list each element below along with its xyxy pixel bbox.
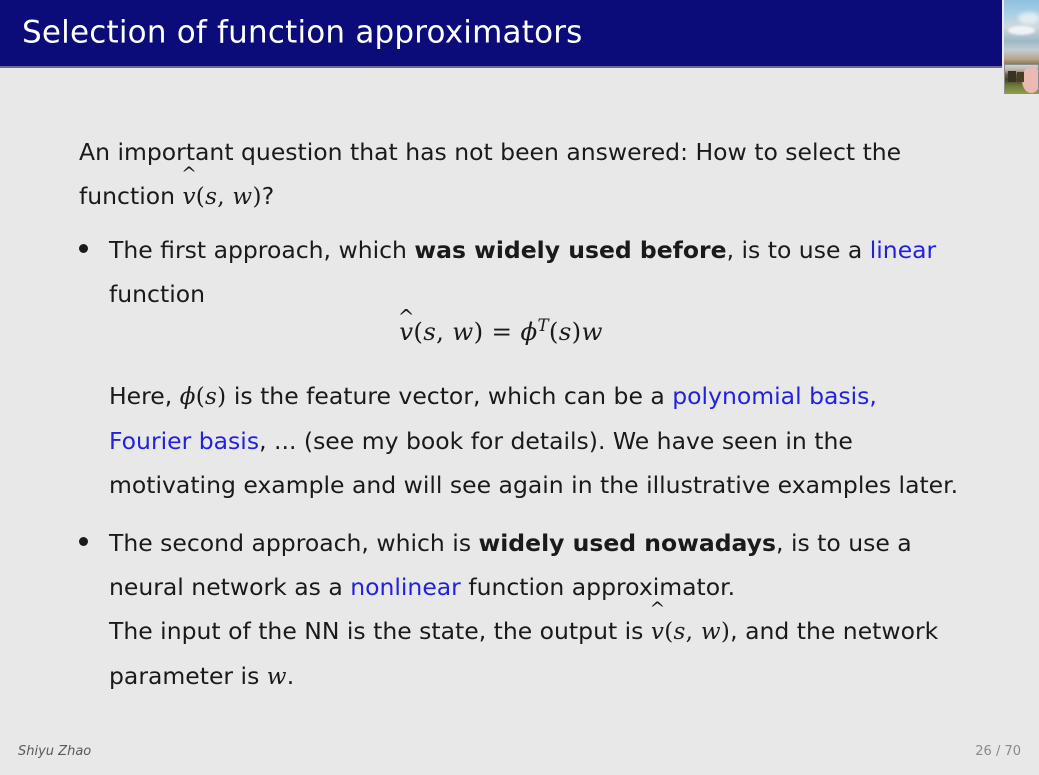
- bullet1-part2: , is to use a: [727, 236, 870, 264]
- bullet2-part3: function approximator.: [461, 573, 735, 601]
- bullet2-subparagraph: The input of the NN is the state, the ou…: [109, 609, 941, 699]
- math-phi-s: ϕ(s): [180, 384, 227, 410]
- bullet1-highlight-linear: linear: [870, 236, 936, 264]
- aftereq-highlight-polynomial-basis: polynomial basis,: [672, 382, 877, 410]
- bullet2-sub-part1: The input of the NN is the state, the ou…: [109, 617, 651, 645]
- bullet2-text: The second approach, which is widely use…: [109, 521, 941, 609]
- footer-author: Shiyu Zhao: [18, 744, 91, 759]
- decoration-strip: [1002, 0, 1039, 96]
- bullet2-part1: The second approach, which is: [109, 529, 479, 557]
- math-w: w: [267, 664, 287, 690]
- aftereq-part2: is the feature vector, which can be a: [226, 382, 672, 410]
- footer-page-number: 26 / 70: [975, 744, 1021, 759]
- bullet1-emphasis: was widely used before: [414, 236, 726, 264]
- intro-line-b-prefix: function: [79, 182, 182, 210]
- bullet1-part3: function: [109, 280, 205, 308]
- bullet-dot-icon: [79, 537, 88, 546]
- slide: Selection of function approximators An i…: [0, 0, 1039, 775]
- slide-footer: Shiyu Zhao 26 / 70: [0, 735, 1039, 775]
- page-title: Selection of function approximators: [22, 14, 583, 50]
- bullet2-highlight-nonlinear: nonlinear: [350, 573, 461, 601]
- sky-clouds-photo-icon: [1004, 0, 1039, 64]
- equation-linear-approximator: ^v(s, w) = ϕT(s)w: [0, 316, 1002, 346]
- photo-shape-building-left: [1008, 71, 1016, 82]
- photo-shape-person: [1022, 67, 1039, 93]
- feature-vector-paragraph: Here, ϕ(s) is the feature vector, which …: [109, 374, 964, 507]
- aftereq-part1: Here,: [109, 382, 180, 410]
- math-vhat-s-w: ^v(s, w): [651, 619, 730, 645]
- slide-title-bar: Selection of function approximators: [0, 0, 1002, 66]
- list-item-first-approach: The first approach, which was widely use…: [79, 228, 941, 316]
- bullet-dot-icon: [79, 244, 88, 253]
- bullet2-emphasis: widely used nowadays: [479, 529, 776, 557]
- equation-body: ^v(s, w) = ϕT(s)w: [399, 317, 603, 346]
- intro-line-b-suffix: ?: [262, 182, 274, 210]
- list-item-second-approach: The second approach, which is widely use…: [79, 521, 941, 699]
- campus-landscape-photo-icon: [1004, 64, 1039, 94]
- bullet1-text: The first approach, which was widely use…: [109, 228, 941, 316]
- bullet2-sub-part3: .: [287, 662, 294, 690]
- intro-paragraph: An important question that has not been …: [79, 130, 924, 219]
- bullet1-part1: The first approach, which: [109, 236, 414, 264]
- slide-content: An important question that has not been …: [0, 68, 1002, 728]
- math-vhat-s-w: ^v(s, w): [182, 184, 261, 210]
- photo-shape-building-right: [1017, 72, 1024, 82]
- intro-line-a: An important question that has not been …: [79, 138, 901, 166]
- aftereq-highlight-fourier-basis: Fourier basis: [109, 427, 259, 455]
